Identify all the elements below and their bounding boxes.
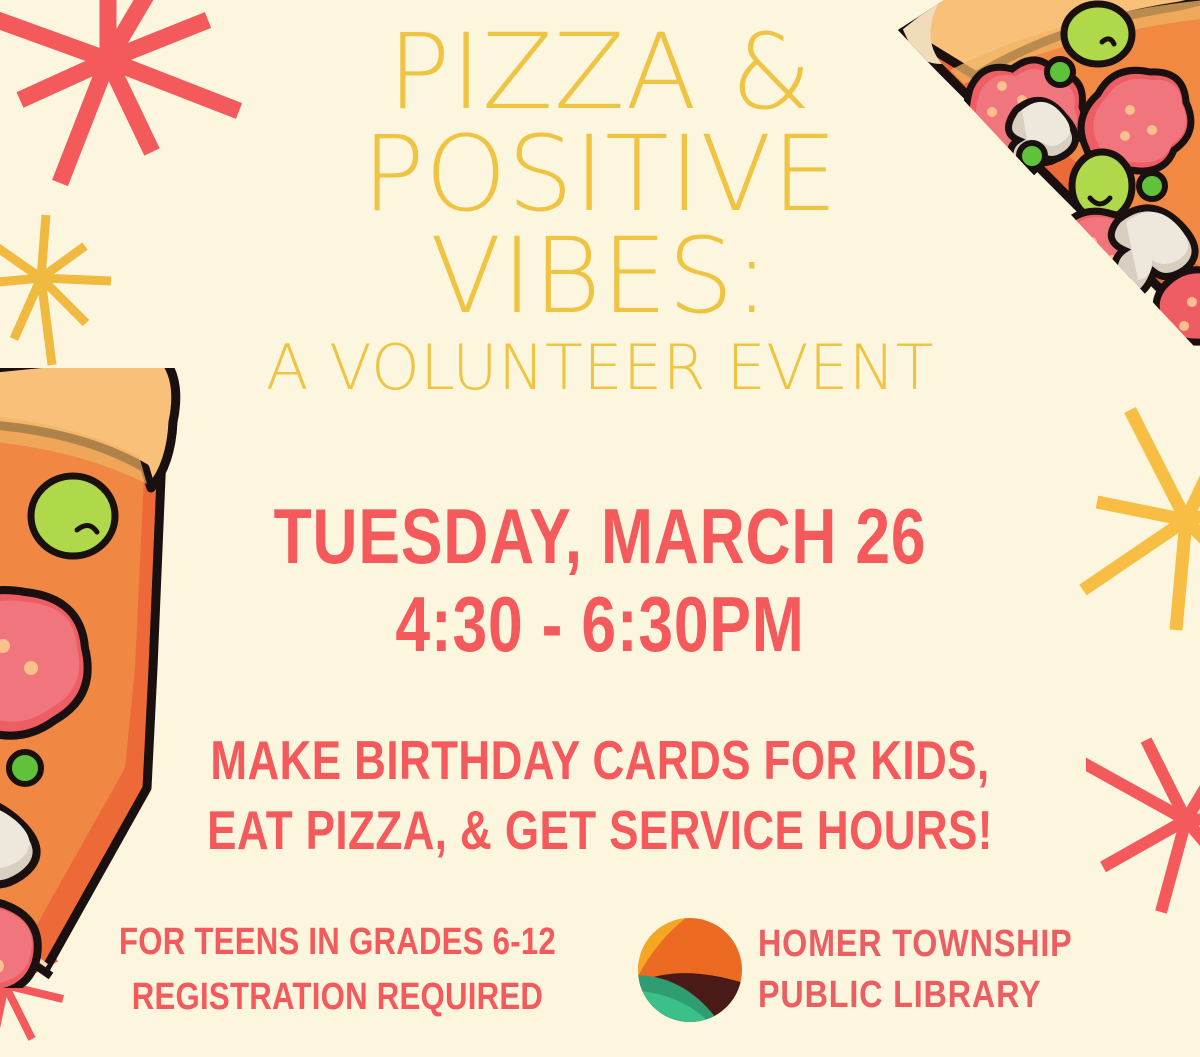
audience-line-1: FOR TEENS IN GRADES 6-12 [119,915,556,970]
library-name-line-1: HOMER TOWNSHIP [758,919,1073,970]
library-logo: HOMER TOWNSHIP PUBLIC LIBRARY [638,918,1128,1022]
audience-line-2: REGISTRATION REQUIRED [119,970,556,1025]
audience-info: FOR TEENS IN GRADES 6-12 REGISTRATION RE… [71,915,604,1025]
description-line-1: MAKE BIRTHDAY CARDS FOR KIDS, [200,725,1000,795]
library-name-line-2: PUBLIC LIBRARY [758,970,1073,1021]
library-logo-text: HOMER TOWNSHIP PUBLIC LIBRARY [758,919,1128,1022]
title-line-2: POSITIVE [200,124,1000,226]
event-datetime: TUESDAY, MARCH 26 4:30 - 6:30PM [150,492,1050,668]
event-flyer: PIZZA & POSITIVE VIBES: A VOLUNTEER EVEN… [0,0,1200,1057]
title-block: PIZZA & POSITIVE VIBES: A VOLUNTEER EVEN… [200,22,1000,399]
description-line-2: EAT PIZZA, & GET SERVICE HOURS! [200,795,1000,865]
event-time: 4:30 - 6:30PM [240,580,960,668]
event-date: TUESDAY, MARCH 26 [240,492,960,580]
title-line-1: PIZZA & [200,22,1000,124]
title-subtitle: A VOLUNTEER EVENT [200,336,1000,399]
title-line-3: VIBES: [200,226,1000,328]
library-logo-mark-icon [638,918,742,1022]
event-description: MAKE BIRTHDAY CARDS FOR KIDS, EAT PIZZA,… [100,725,1100,866]
flyer-content: PIZZA & POSITIVE VIBES: A VOLUNTEER EVEN… [0,0,1200,1057]
flyer-footer: FOR TEENS IN GRADES 6-12 REGISTRATION RE… [0,915,1200,1025]
